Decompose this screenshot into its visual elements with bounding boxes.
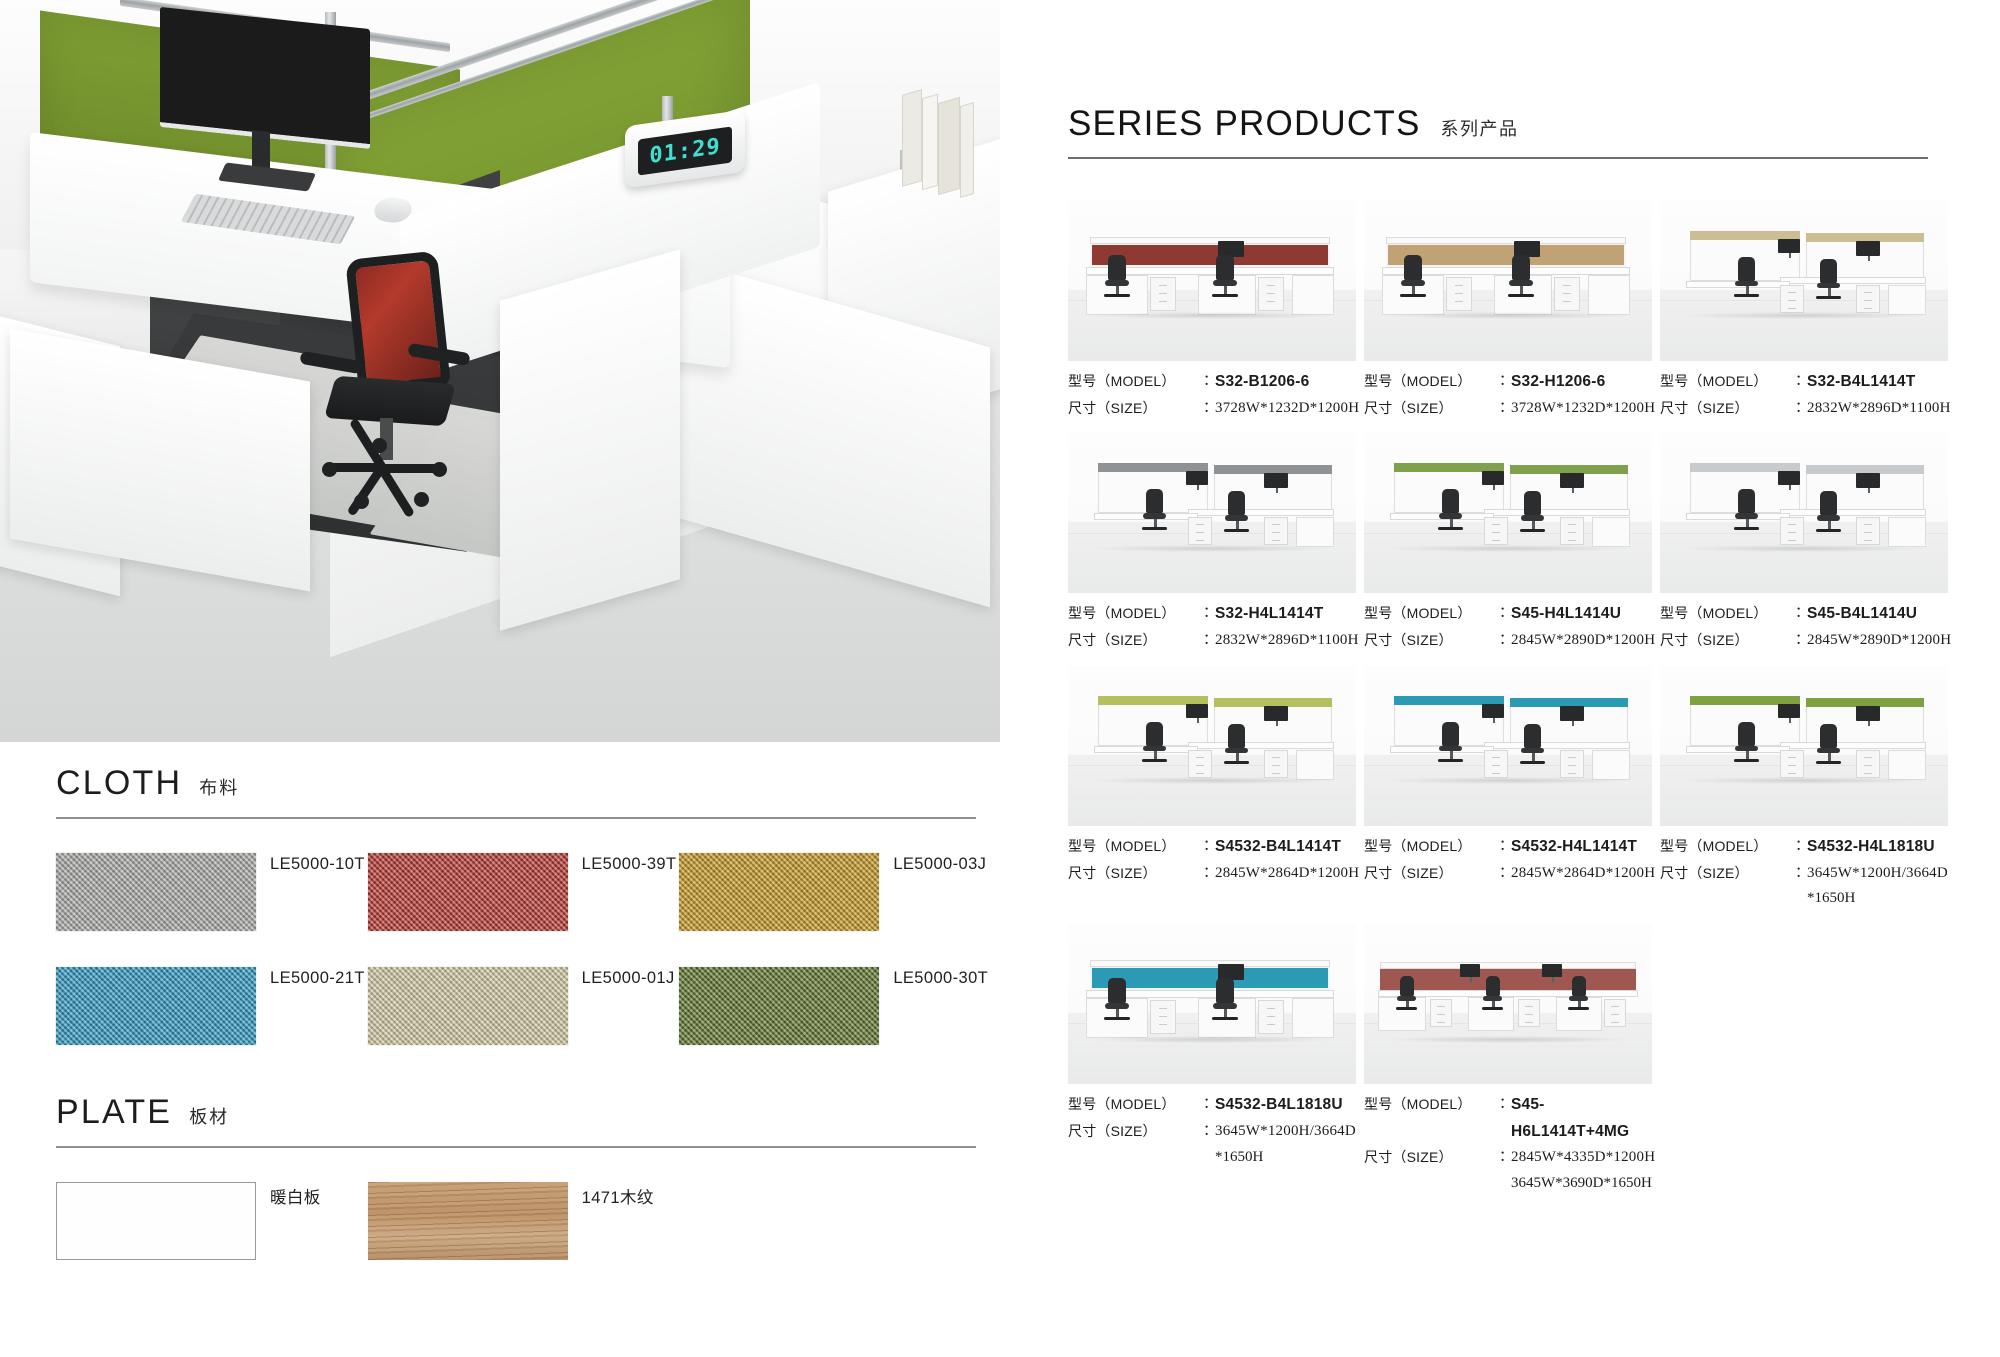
product-model-key: 型号（MODEL）	[1068, 1092, 1203, 1119]
product-thumbnail	[1364, 924, 1652, 1084]
book-1	[902, 89, 922, 187]
product-size-row: 尺寸（SIZE） ： 2845W*2864D*1200H	[1364, 861, 1654, 887]
product-model-colon: ：	[1499, 834, 1511, 861]
product-size-value-2: *1650H	[1068, 1145, 1358, 1171]
product-size-colon: ：	[1203, 628, 1215, 654]
product-size-colon: ：	[1203, 396, 1215, 422]
plate-divider	[56, 1146, 976, 1148]
product-model-value: S45-H4L1414U	[1511, 601, 1621, 628]
hero-workstation-photo: 01:29	[0, 0, 1000, 742]
product-meta: 型号（MODEL） ： S45-B4L1414U 尺寸（SIZE） ： 2845…	[1660, 601, 1950, 653]
cloth-swatch-label: LE5000-30T	[893, 967, 988, 988]
product-size-colon: ：	[1499, 628, 1511, 654]
product-size-colon: ：	[1499, 1145, 1511, 1171]
book-2	[922, 94, 938, 191]
clock-time-text: 01:29	[649, 133, 720, 168]
product-size-row: 尺寸（SIZE） ： 2845W*2864D*1200H	[1068, 861, 1358, 887]
product-model-key: 型号（MODEL）	[1660, 369, 1795, 396]
product-size-row: 尺寸（SIZE） ： 2845W*2890D*1200H	[1364, 628, 1654, 654]
product-model-colon: ：	[1795, 834, 1807, 861]
product-size-key: 尺寸（SIZE）	[1068, 628, 1203, 654]
plate-swatch-label: 1471木纹	[582, 1182, 654, 1208]
cloth-swatch-color	[56, 853, 256, 931]
cabinet-right-front	[500, 249, 680, 631]
product-card[interactable]: 型号（MODEL） ： S4532-B4L1818U 尺寸（SIZE） ： 36…	[1068, 924, 1358, 1197]
product-model-row: 型号（MODEL） ： S4532-H4L1818U	[1660, 834, 1950, 861]
product-model-row: 型号（MODEL） ： S4532-H4L1414T	[1364, 834, 1654, 861]
product-model-value: S32-B1206-6	[1215, 369, 1309, 396]
product-thumbnail	[1068, 201, 1356, 361]
series-divider	[1068, 157, 1928, 159]
product-size-value-2: *1650H	[1660, 886, 1950, 912]
cloth-section: CLOTH 布料 LE5000-10T LE5000-39T L	[56, 764, 944, 1045]
product-model-value: S45-H6L1414T+4MG	[1511, 1092, 1654, 1145]
plate-swatch-item[interactable]: 1471木纹	[368, 1182, 680, 1260]
product-model-colon: ：	[1795, 369, 1807, 396]
product-size-row: 尺寸（SIZE） ： 2832W*2896D*1100H	[1068, 628, 1358, 654]
product-model-colon: ：	[1203, 1092, 1215, 1119]
product-model-row: 型号（MODEL） ： S32-H4L1414T	[1068, 601, 1358, 628]
cloth-swatch-color	[679, 853, 879, 931]
product-card[interactable]: 型号（MODEL） ： S32-B4L1414T 尺寸（SIZE） ： 2832…	[1660, 201, 1950, 421]
product-model-value: S4532-B4L1414T	[1215, 834, 1341, 861]
product-model-colon: ：	[1203, 601, 1215, 628]
product-model-key: 型号（MODEL）	[1068, 834, 1203, 861]
product-size-value: 2832W*2896D*1100H	[1807, 396, 1951, 422]
cloth-title-cn: 布料	[199, 774, 239, 800]
product-model-row: 型号（MODEL） ： S45-H4L1414U	[1364, 601, 1654, 628]
product-thumbnail	[1068, 433, 1356, 593]
series-title-en: SERIES PRODUCTS	[1068, 104, 1421, 144]
series-title-cn: 系列产品	[1441, 115, 1519, 141]
product-size-key: 尺寸（SIZE）	[1660, 628, 1795, 654]
product-model-value: S4532-B4L1818U	[1215, 1092, 1343, 1119]
product-size-value: 3645W*1200H/3664D	[1807, 861, 1948, 887]
product-model-colon: ：	[1795, 601, 1807, 628]
product-model-key: 型号（MODEL）	[1068, 601, 1203, 628]
cloth-swatch-item[interactable]: LE5000-10T	[56, 853, 368, 931]
product-model-colon: ：	[1499, 1092, 1511, 1145]
cloth-swatch-label: LE5000-10T	[270, 853, 365, 874]
product-card[interactable]: 型号（MODEL） ： S45-B4L1414U 尺寸（SIZE） ： 2845…	[1660, 433, 1950, 653]
product-size-key: 尺寸（SIZE）	[1068, 396, 1203, 422]
product-model-key: 型号（MODEL）	[1660, 834, 1795, 861]
product-thumbnail	[1068, 666, 1356, 826]
cloth-divider	[56, 817, 976, 819]
cloth-swatch-label: LE5000-01J	[582, 967, 675, 988]
product-thumbnail	[1364, 201, 1652, 361]
product-size-colon: ：	[1499, 861, 1511, 887]
left-column: 01:29	[0, 0, 1000, 1357]
product-meta: 型号（MODEL） ： S4532-B4L1818U 尺寸（SIZE） ： 36…	[1068, 1092, 1358, 1170]
product-model-row: 型号（MODEL） ： S32-B1206-6	[1068, 369, 1358, 396]
product-model-value: S45-B4L1414U	[1807, 601, 1917, 628]
product-card[interactable]: 型号（MODEL） ： S32-H4L1414T 尺寸（SIZE） ： 2832…	[1068, 433, 1358, 653]
product-size-value: 2832W*2896D*1100H	[1215, 628, 1359, 654]
product-size-row: 尺寸（SIZE） ： 2845W*4335D*1200H	[1364, 1145, 1654, 1171]
product-model-key: 型号（MODEL）	[1364, 601, 1499, 628]
product-size-row: 尺寸（SIZE） ： 3645W*1200H/3664D	[1068, 1119, 1358, 1145]
product-size-value: 3645W*1200H/3664D	[1215, 1119, 1356, 1145]
product-card[interactable]: 型号（MODEL） ： S4532-H4L1414T 尺寸（SIZE） ： 28…	[1364, 666, 1654, 912]
cloth-swatch-item[interactable]: LE5000-30T	[679, 967, 991, 1045]
cloth-heading: CLOTH 布料	[56, 764, 944, 803]
product-size-value: 3728W*1232D*1200H	[1511, 396, 1655, 422]
product-card[interactable]: 型号（MODEL） ： S45-H4L1414U 尺寸（SIZE） ： 2845…	[1364, 433, 1654, 653]
materials-sections: CLOTH 布料 LE5000-10T LE5000-39T L	[0, 742, 1000, 1260]
cloth-swatch-item[interactable]: LE5000-21T	[56, 967, 368, 1045]
product-meta: 型号（MODEL） ： S32-H1206-6 尺寸（SIZE） ： 3728W…	[1364, 369, 1654, 421]
product-size-row: 尺寸（SIZE） ： 3645W*1200H/3664D	[1660, 861, 1950, 887]
product-grid: 型号（MODEL） ： S32-B1206-6 尺寸（SIZE） ： 3728W…	[1068, 201, 1948, 1197]
cloth-swatch-item[interactable]: LE5000-39T	[368, 853, 680, 931]
product-card[interactable]: 型号（MODEL） ： S4532-B4L1414T 尺寸（SIZE） ： 28…	[1068, 666, 1358, 912]
book-3	[938, 97, 960, 195]
product-size-key: 尺寸（SIZE）	[1660, 861, 1795, 887]
cloth-title-en: CLOTH	[56, 764, 182, 803]
plate-swatch-grid: 暖白板 1471木纹	[56, 1182, 991, 1260]
product-size-key: 尺寸（SIZE）	[1068, 1119, 1203, 1145]
product-size-key: 尺寸（SIZE）	[1364, 1145, 1499, 1171]
product-thumbnail	[1660, 666, 1948, 826]
product-meta: 型号（MODEL） ： S45-H4L1414U 尺寸（SIZE） ： 2845…	[1364, 601, 1654, 653]
product-size-value: 2845W*2864D*1200H	[1511, 861, 1655, 887]
cloth-swatch-grid: LE5000-10T LE5000-39T LE5000-03J LE5000-…	[56, 853, 991, 1045]
plate-title-en: PLATE	[56, 1093, 172, 1132]
product-meta: 型号（MODEL） ： S32-H4L1414T 尺寸（SIZE） ： 2832…	[1068, 601, 1358, 653]
product-size-value: 2845W*2890D*1200H	[1807, 628, 1951, 654]
plate-section: PLATE 板材 暖白板 1471木纹	[56, 1093, 944, 1260]
product-meta: 型号（MODEL） ： S4532-H4L1414T 尺寸（SIZE） ： 28…	[1364, 834, 1654, 886]
cloth-swatch-label: LE5000-03J	[893, 853, 986, 874]
product-thumbnail	[1364, 666, 1652, 826]
book-4	[960, 102, 974, 198]
cloth-swatch-label: LE5000-39T	[582, 853, 677, 874]
cloth-swatch-color	[679, 967, 879, 1045]
product-size-key: 尺寸（SIZE）	[1068, 861, 1203, 887]
plate-swatch-color	[56, 1182, 256, 1260]
product-model-row: 型号（MODEL） ： S45-H6L1414T+4MG	[1364, 1092, 1654, 1145]
catalog-page: 01:29	[0, 0, 2000, 1357]
cloth-swatch-color	[56, 967, 256, 1045]
product-size-key: 尺寸（SIZE）	[1660, 396, 1795, 422]
product-size-colon: ：	[1203, 1119, 1215, 1145]
product-model-colon: ：	[1499, 369, 1511, 396]
monitor-screen	[160, 7, 370, 149]
product-model-colon: ：	[1203, 369, 1215, 396]
product-card[interactable]: 型号（MODEL） ： S45-H6L1414T+4MG 尺寸（SIZE） ： …	[1364, 924, 1654, 1197]
product-meta: 型号（MODEL） ： S4532-B4L1414T 尺寸（SIZE） ： 28…	[1068, 834, 1358, 886]
product-size-colon: ：	[1795, 396, 1807, 422]
product-card[interactable]: 型号（MODEL） ： S32-B1206-6 尺寸（SIZE） ： 3728W…	[1068, 201, 1358, 421]
product-size-key: 尺寸（SIZE）	[1364, 628, 1499, 654]
product-meta: 型号（MODEL） ： S32-B4L1414T 尺寸（SIZE） ： 2832…	[1660, 369, 1950, 421]
product-model-colon: ：	[1203, 834, 1215, 861]
product-thumbnail	[1660, 201, 1948, 361]
product-size-colon: ：	[1203, 861, 1215, 887]
plate-swatch-label: 暖白板	[270, 1182, 321, 1208]
product-size-colon: ：	[1795, 628, 1807, 654]
product-model-key: 型号（MODEL）	[1364, 369, 1499, 396]
product-size-colon: ：	[1499, 396, 1511, 422]
product-model-value: S32-H4L1414T	[1215, 601, 1323, 628]
product-model-row: 型号（MODEL） ： S4532-B4L1818U	[1068, 1092, 1358, 1119]
product-card[interactable]: 型号（MODEL） ： S4532-H4L1818U 尺寸（SIZE） ： 36…	[1660, 666, 1950, 912]
product-size-row: 尺寸（SIZE） ： 3728W*1232D*1200H	[1068, 396, 1358, 422]
cloth-swatch-item[interactable]: LE5000-03J	[679, 853, 991, 931]
product-model-value: S32-H1206-6	[1511, 369, 1605, 396]
product-meta: 型号（MODEL） ： S4532-H4L1818U 尺寸（SIZE） ： 36…	[1660, 834, 1950, 912]
office-chair-base	[328, 452, 446, 488]
product-size-value: 2845W*4335D*1200H	[1511, 1145, 1655, 1171]
product-model-key: 型号（MODEL）	[1364, 1092, 1499, 1145]
product-model-key: 型号（MODEL）	[1068, 369, 1203, 396]
product-meta: 型号（MODEL） ： S45-H6L1414T+4MG 尺寸（SIZE） ： …	[1364, 1092, 1654, 1197]
cloth-swatch-color	[368, 967, 568, 1045]
plate-swatch-item[interactable]: 暖白板	[56, 1182, 368, 1260]
product-size-colon: ：	[1795, 861, 1807, 887]
product-meta: 型号（MODEL） ： S32-B1206-6 尺寸（SIZE） ： 3728W…	[1068, 369, 1358, 421]
product-model-value: S4532-H4L1414T	[1511, 834, 1637, 861]
product-model-value: S32-B4L1414T	[1807, 369, 1915, 396]
product-model-value: S4532-H4L1818U	[1807, 834, 1935, 861]
product-model-key: 型号（MODEL）	[1364, 834, 1499, 861]
product-size-value: 2845W*2890D*1200H	[1511, 628, 1655, 654]
product-model-row: 型号（MODEL） ： S45-B4L1414U	[1660, 601, 1950, 628]
product-model-row: 型号（MODEL） ： S4532-B4L1414T	[1068, 834, 1358, 861]
cloth-swatch-item[interactable]: LE5000-01J	[368, 967, 680, 1045]
product-model-key: 型号（MODEL）	[1660, 601, 1795, 628]
product-size-row: 尺寸（SIZE） ： 2845W*2890D*1200H	[1660, 628, 1950, 654]
product-model-colon: ：	[1499, 601, 1511, 628]
plate-title-cn: 板材	[189, 1103, 229, 1129]
product-size-row: 尺寸（SIZE） ： 2832W*2896D*1100H	[1660, 396, 1950, 422]
product-thumbnail	[1364, 433, 1652, 593]
series-products-column: SERIES PRODUCTS 系列产品 型号（MODEL） ： S32-B12…	[1000, 0, 2000, 1357]
product-size-value-2: 3645W*3690D*1650H	[1364, 1171, 1654, 1197]
product-size-row: 尺寸（SIZE） ： 3728W*1232D*1200H	[1364, 396, 1654, 422]
series-products-heading: SERIES PRODUCTS 系列产品	[1068, 104, 2000, 144]
cloth-swatch-label: LE5000-21T	[270, 967, 365, 988]
product-card[interactable]: 型号（MODEL） ： S32-H1206-6 尺寸（SIZE） ： 3728W…	[1364, 201, 1654, 421]
product-thumbnail	[1660, 433, 1948, 593]
cloth-swatch-color	[368, 853, 568, 931]
office-chair-backrest	[345, 251, 451, 395]
plate-heading: PLATE 板材	[56, 1093, 944, 1132]
product-size-key: 尺寸（SIZE）	[1364, 396, 1499, 422]
product-size-value: 2845W*2864D*1200H	[1215, 861, 1359, 887]
plate-swatch-color	[368, 1182, 568, 1260]
product-size-value: 3728W*1232D*1200H	[1215, 396, 1359, 422]
product-size-key: 尺寸（SIZE）	[1364, 861, 1499, 887]
product-thumbnail	[1068, 924, 1356, 1084]
product-model-row: 型号（MODEL） ： S32-H1206-6	[1364, 369, 1654, 396]
product-model-row: 型号（MODEL） ： S32-B4L1414T	[1660, 369, 1950, 396]
